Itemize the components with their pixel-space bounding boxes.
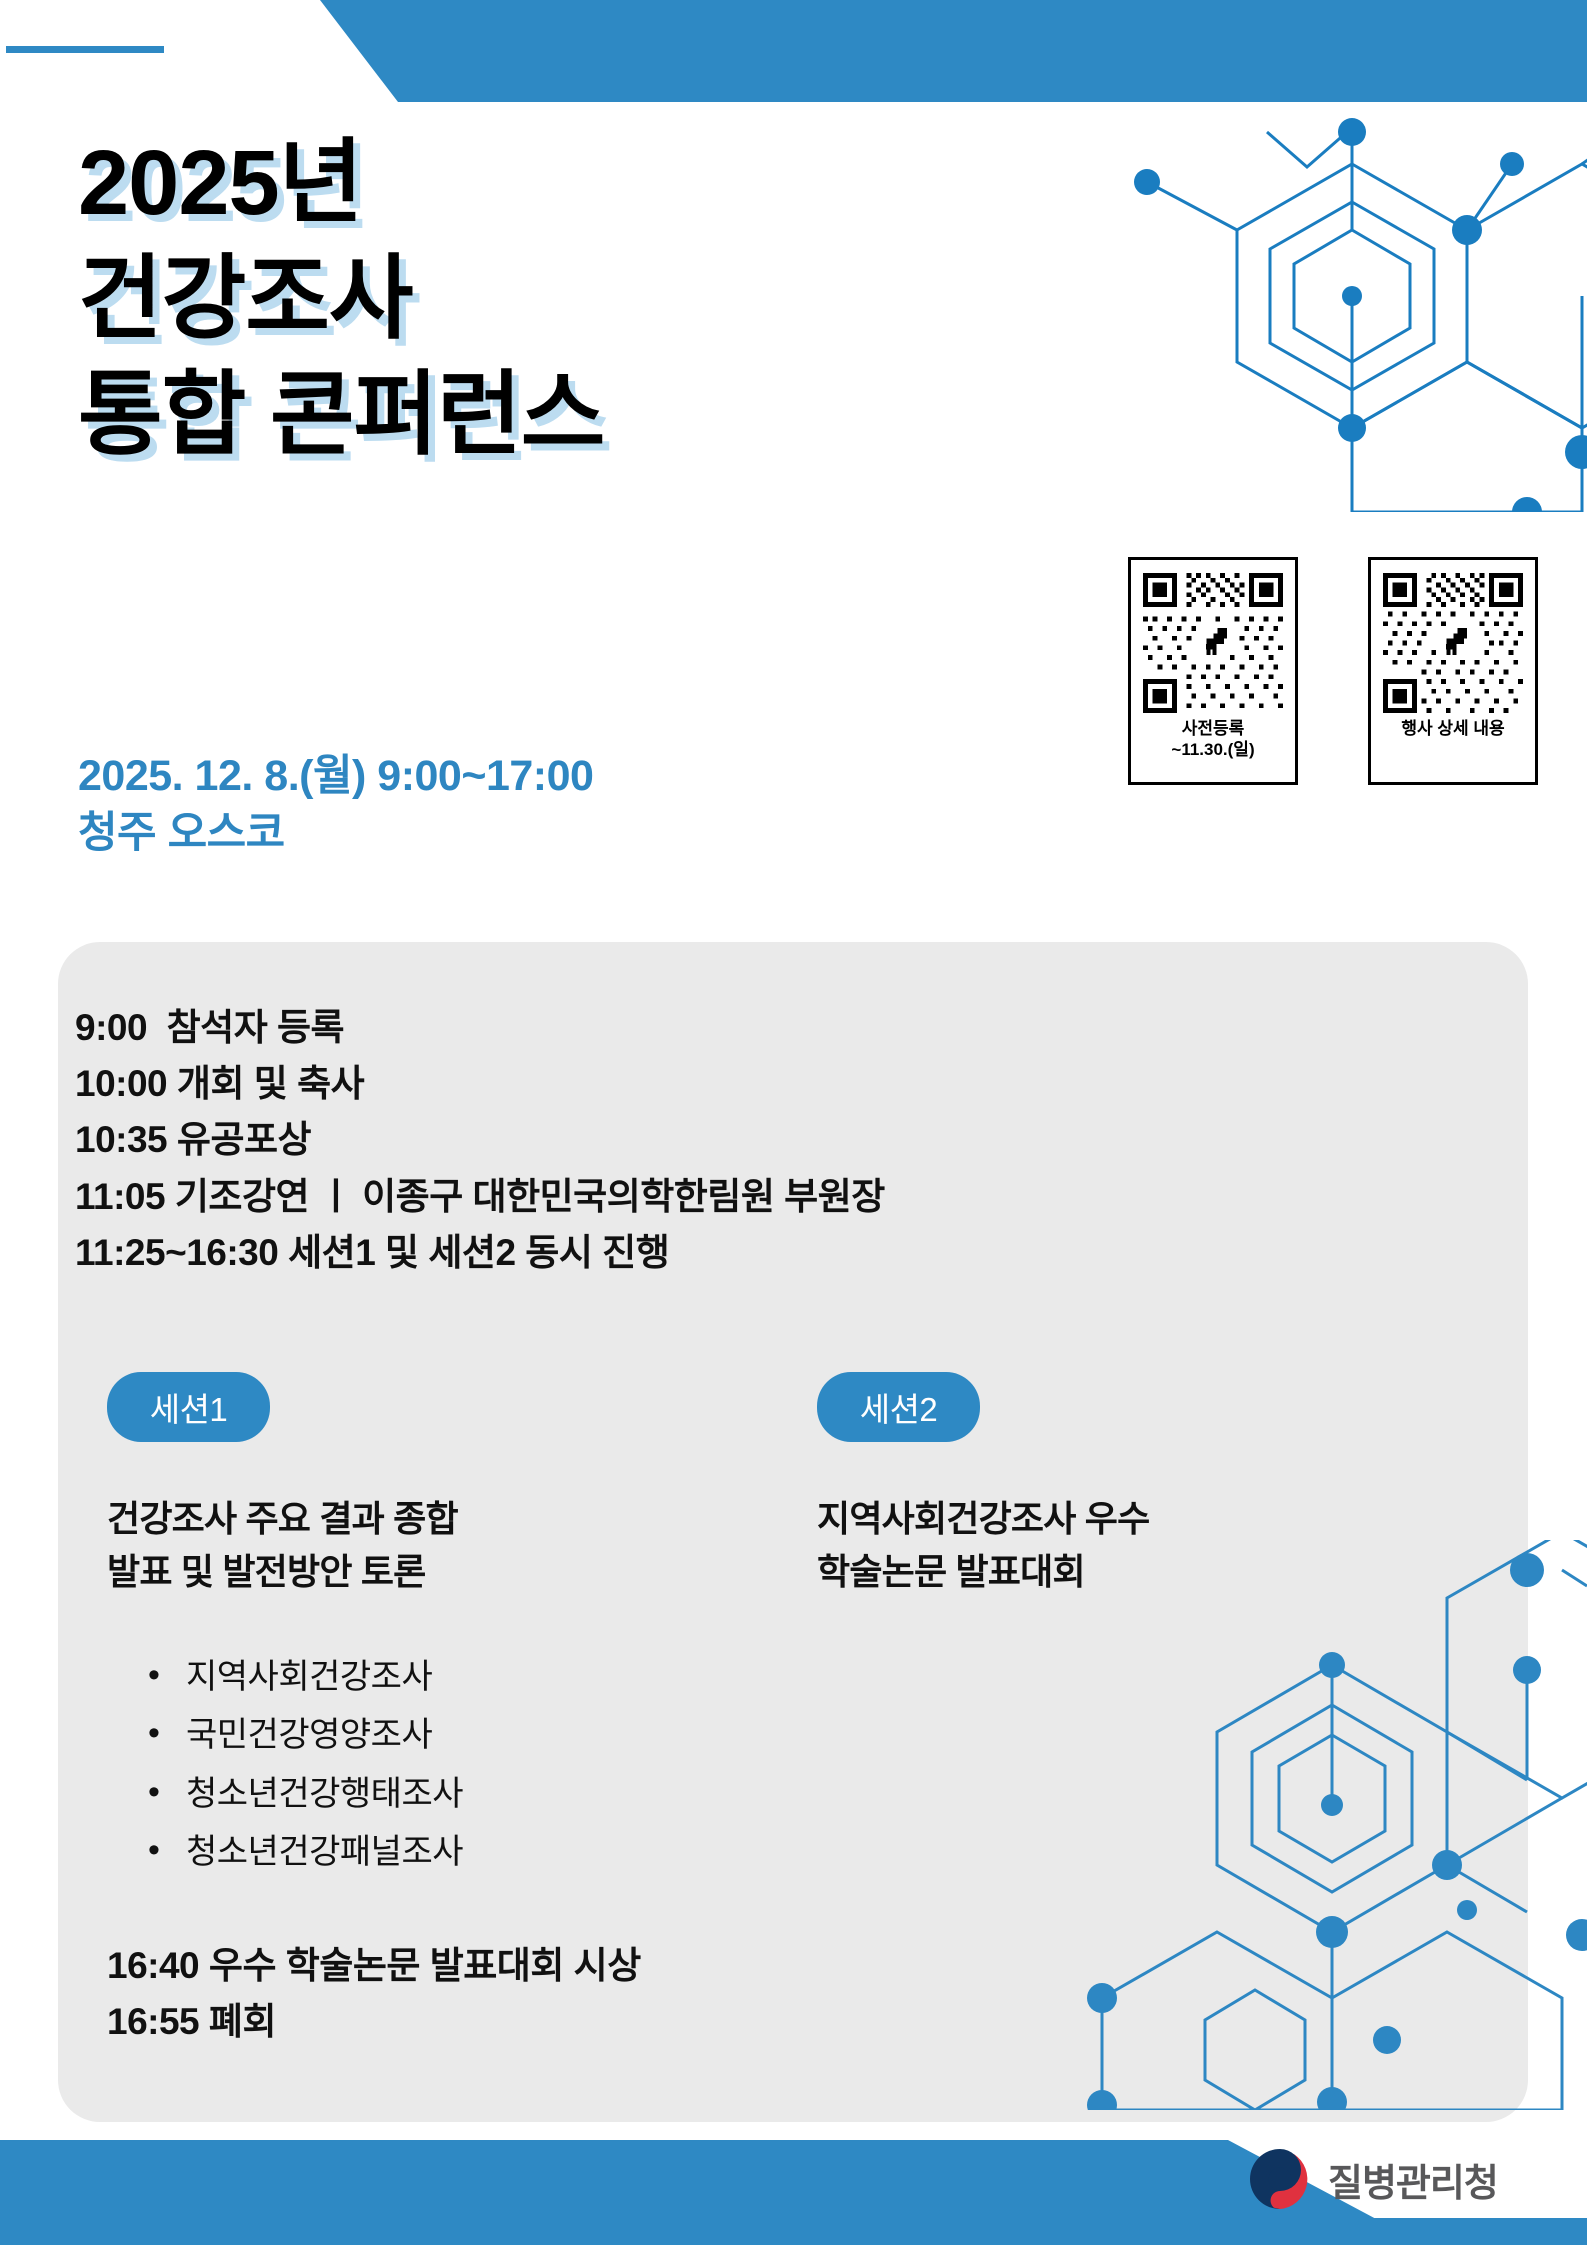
hexagon-network-graphic-top [1107, 72, 1587, 512]
session1-badge[interactable]: 세션1 [107, 1372, 270, 1442]
kdca-logo: 질병관리청 [1248, 2147, 1498, 2211]
session2-heading: 지역사회건강조사 우수 학술논문 발표대회 [817, 1492, 1149, 1599]
list-item: 국민건강영양조사 [142, 1706, 463, 1764]
session1-topic-list: 지역사회건강조사 국민건강영양조사 청소년건강행태조사 청소년건강패널조사 [142, 1648, 463, 1882]
schedule-list: 9:00 참석자 등록 10:00 개회 및 축사 10:35 유공포상 11:… [75, 1000, 885, 1281]
qr-caption-event-details: 행사 상세 내용 [1401, 719, 1504, 740]
poster-datetime-venue: 2025. 12. 8.(월) 9:00~17:00 청주 오스코 [78, 748, 593, 862]
bottom-blue-strip [0, 2218, 1587, 2245]
taegeuk-icon [1248, 2147, 1312, 2211]
list-item: 청소년건강행태조사 [142, 1765, 463, 1823]
hexagon-network-graphic-bottom [1027, 1540, 1587, 2110]
session1-heading: 건강조사 주요 결과 종합 발표 및 발전방안 토론 [107, 1492, 458, 1599]
top-left-accent-rule [6, 46, 164, 53]
list-item: 지역사회건강조사 [142, 1648, 463, 1706]
qr-code-image-pre-registration [1143, 573, 1283, 713]
poster-title: 2025년 건강조사 통합 콘퍼런스 [78, 126, 604, 474]
list-item: 청소년건강패널조사 [142, 1823, 463, 1881]
qr-card-pre-registration[interactable]: 사전등록 ~11.30.(일) [1128, 557, 1298, 785]
closing-schedule-list: 16:40 우수 학술논문 발표대회 시상 16:55 폐회 [107, 1938, 641, 2049]
session2-badge[interactable]: 세션2 [817, 1372, 980, 1442]
qr-card-event-details[interactable]: 행사 상세 내용 [1368, 557, 1538, 785]
qr-code-image-event-details [1383, 573, 1523, 713]
organization-name: 질병관리청 [1328, 2152, 1498, 2207]
qr-caption-pre-registration: 사전등록 ~11.30.(일) [1171, 719, 1254, 760]
